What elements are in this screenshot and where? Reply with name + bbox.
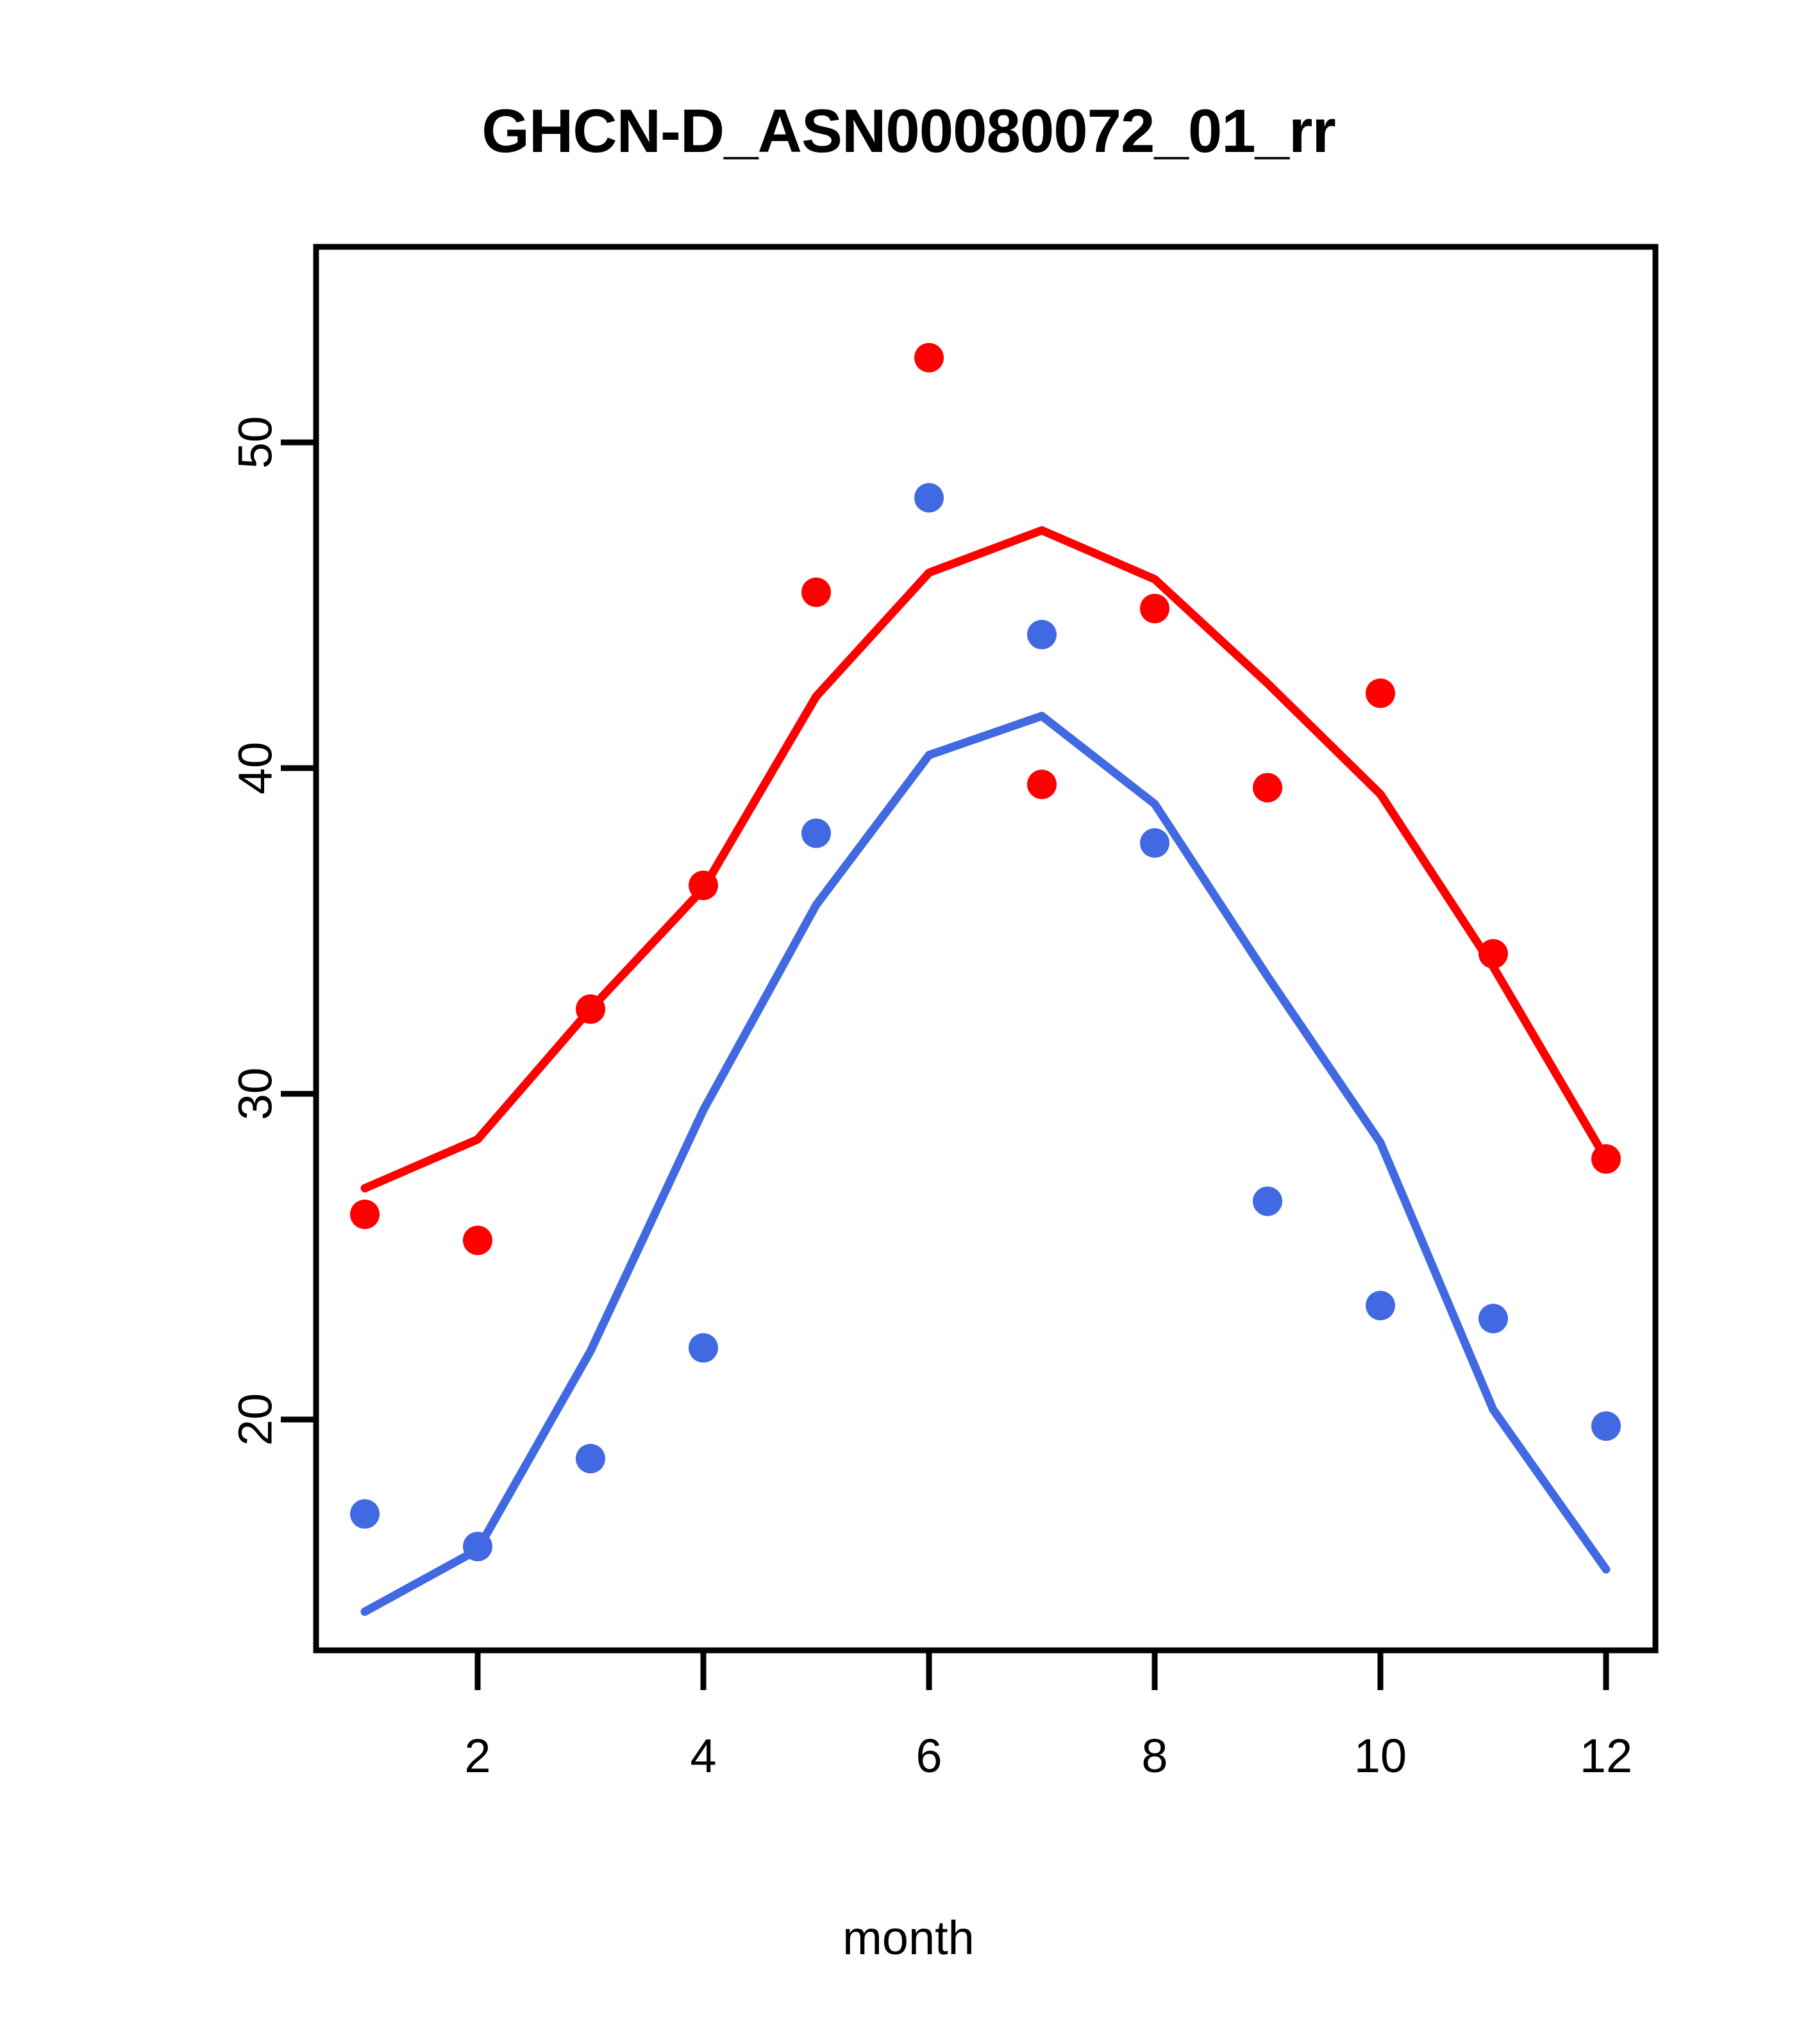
data-point-blue-points [1253, 1187, 1282, 1216]
y-axis-tick-label: 40 [229, 742, 282, 794]
data-point-blue-points [1027, 620, 1057, 649]
data-point-blue-points [1366, 1291, 1395, 1320]
chart-figure: GHCN-D_ASN00080072_01_rr 203040502468101… [0, 0, 1817, 2044]
x-axis-label: month [0, 1911, 1817, 1965]
data-point-red-points [914, 343, 944, 373]
data-point-red-points [1027, 769, 1057, 799]
plot-box [316, 247, 1655, 1650]
y-axis-tick-label: 20 [229, 1393, 282, 1446]
data-point-red-points [463, 1226, 492, 1255]
data-point-blue-points [689, 1333, 718, 1362]
plot-area: 2030405024681012 [0, 0, 1817, 2044]
data-point-blue-points [350, 1499, 380, 1529]
data-point-red-points [1253, 773, 1282, 803]
data-point-red-points [1366, 678, 1395, 708]
data-point-red-points [1591, 1144, 1621, 1174]
data-point-blue-points [463, 1532, 492, 1561]
x-axis-tick-label: 12 [1580, 1729, 1632, 1782]
data-point-red-points [689, 871, 718, 900]
data-point-blue-points [576, 1444, 605, 1473]
x-axis-tick-label: 10 [1354, 1729, 1407, 1782]
data-point-red-points [350, 1200, 380, 1229]
series-line-red-line [365, 530, 1606, 1188]
x-axis-tick-label: 6 [916, 1729, 942, 1782]
data-point-red-points [1140, 594, 1169, 623]
data-point-blue-points [801, 819, 831, 848]
data-point-red-points [1478, 939, 1508, 969]
x-axis-tick-label: 2 [464, 1729, 490, 1782]
data-point-red-points [576, 994, 605, 1024]
data-point-red-points [801, 578, 831, 607]
y-axis-tick-label: 50 [229, 416, 282, 469]
x-axis-tick-label: 4 [690, 1729, 716, 1782]
data-point-blue-points [1478, 1304, 1508, 1334]
data-point-blue-points [914, 483, 944, 512]
x-axis-tick-label: 8 [1141, 1729, 1168, 1782]
y-axis-tick-label: 30 [229, 1068, 282, 1120]
data-point-blue-points [1591, 1411, 1621, 1441]
data-point-blue-points [1140, 828, 1169, 858]
